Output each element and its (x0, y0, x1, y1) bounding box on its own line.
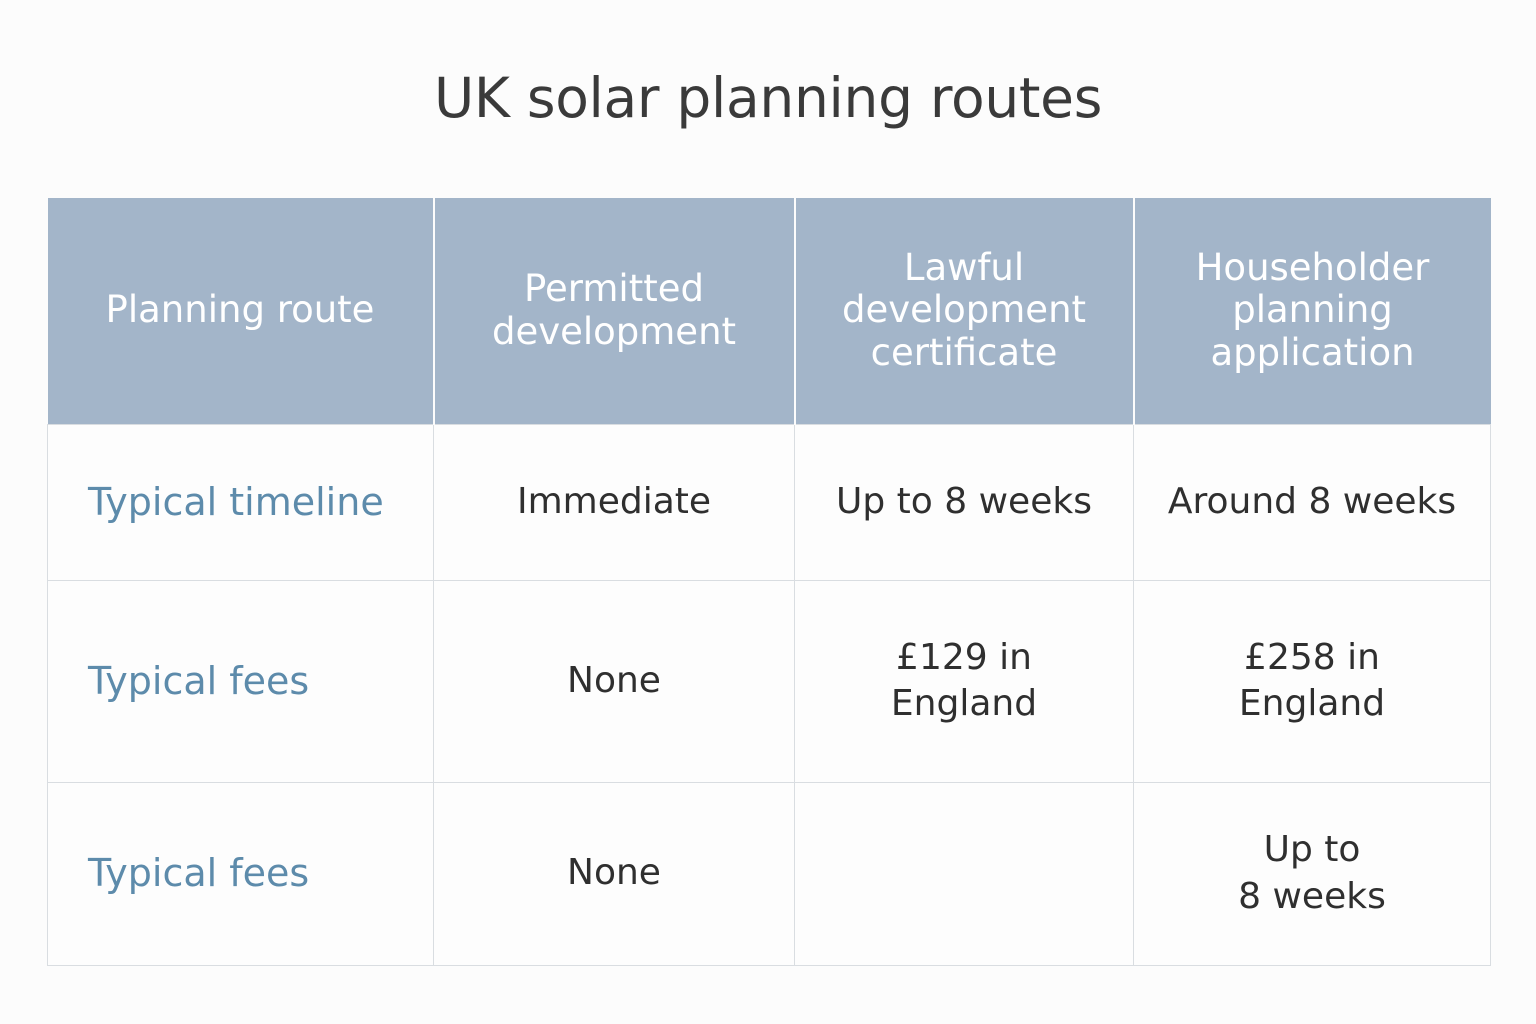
cell-fees-permitted-development: None (434, 580, 795, 782)
header-line: development (810, 289, 1119, 332)
table-row: Typical timeline Immediate Up to 8 weeks… (48, 424, 1491, 580)
table-row: Typical fees None £129 in England £258 i… (48, 580, 1491, 782)
cell-fees-householder-planning-application: £258 in England (1134, 580, 1491, 782)
cell-line: Around 8 weeks (1150, 479, 1474, 525)
header-line: Planning route (62, 289, 419, 332)
row-label-text: Typical fees (88, 657, 417, 706)
table-container: Planning route Permitted development Law… (47, 198, 1490, 965)
cell-line: Immediate (450, 479, 778, 525)
row-label-text: Typical fees (88, 849, 417, 898)
cell-fees2-householder-planning-application: Up to 8 weeks (1134, 782, 1491, 965)
column-header-permitted-development: Permitted development (434, 198, 795, 424)
cell-line: England (1150, 681, 1474, 727)
cell-fees2-permitted-development: None (434, 782, 795, 965)
column-header-planning-route: Planning route (48, 198, 434, 424)
table-header: Planning route Permitted development Law… (48, 198, 1491, 424)
table-body: Typical timeline Immediate Up to 8 weeks… (48, 424, 1491, 965)
cell-timeline-householder-planning-application: Around 8 weeks (1134, 424, 1491, 580)
column-header-lawful-development-certificate: Lawful development certificate (795, 198, 1134, 424)
row-label-typical-fees-1: Typical fees (48, 580, 434, 782)
cell-line: Up to 8 weeks (811, 479, 1117, 525)
cell-line: £129 in (811, 635, 1117, 681)
header-row: Planning route Permitted development Law… (48, 198, 1491, 424)
cell-line: £258 in (1150, 635, 1474, 681)
row-label-text: Typical timeline (88, 478, 417, 527)
cell-line: Up to (1150, 827, 1474, 873)
header-line: development (449, 311, 780, 354)
cell-line: None (450, 658, 778, 704)
row-label-typical-timeline: Typical timeline (48, 424, 434, 580)
cell-fees2-lawful-development-certificate (795, 782, 1134, 965)
cell-timeline-lawful-development-certificate: Up to 8 weeks (795, 424, 1134, 580)
cell-fees-lawful-development-certificate: £129 in England (795, 580, 1134, 782)
header-line: application (1149, 332, 1477, 375)
cell-line-empty (811, 873, 1117, 874)
cell-timeline-permitted-development: Immediate (434, 424, 795, 580)
header-line: Lawful (810, 247, 1119, 290)
header-line: certificate (810, 332, 1119, 375)
cell-line: 8 weeks (1150, 874, 1474, 920)
cell-line: None (450, 850, 778, 896)
header-line: Householder (1149, 247, 1477, 290)
table-row: Typical fees None Up to 8 weeks (48, 782, 1491, 965)
header-line: Permitted (449, 268, 780, 311)
header-line: planning (1149, 289, 1477, 332)
planning-routes-table: Planning route Permitted development Law… (47, 198, 1491, 966)
column-header-householder-planning-application: Householder planning application (1134, 198, 1491, 424)
page-title: UK solar planning routes (0, 68, 1536, 129)
cell-line: England (811, 681, 1117, 727)
page-root: UK solar planning routes Planning route … (0, 0, 1536, 1024)
row-label-typical-fees-2: Typical fees (48, 782, 434, 965)
